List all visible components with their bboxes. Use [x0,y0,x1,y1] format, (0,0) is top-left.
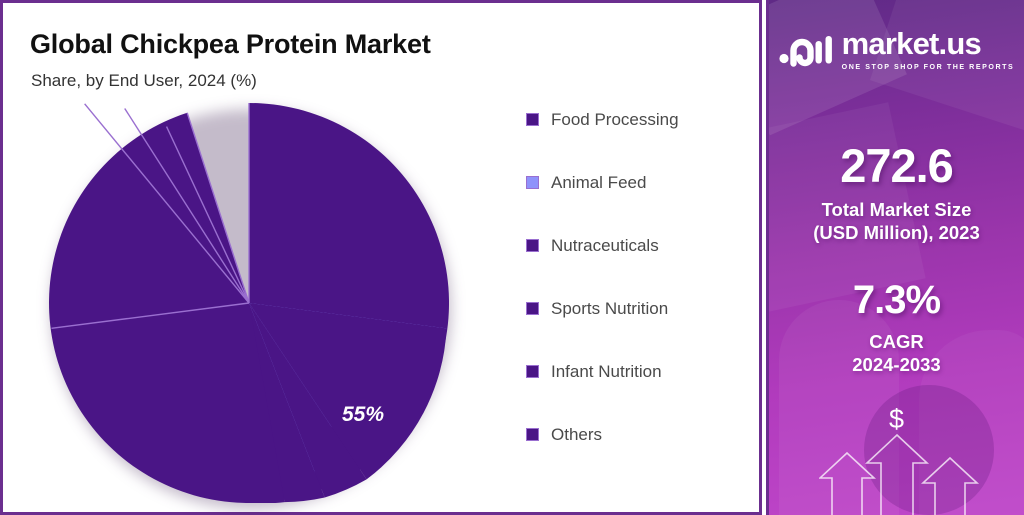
caption-line-1: CAGR [769,330,1024,353]
brand-panel: market.us ONE STOP SHOP FOR THE REPORTS … [766,0,1024,515]
legend-swatch-icon [526,176,539,189]
total-market-size-caption: Total Market Size (USD Million), 2023 [769,198,1024,245]
legend-item-label: Food Processing [551,111,679,128]
caption-line-1: Total Market Size [769,198,1024,221]
pie-slice-percentage-label: 55% [342,403,384,427]
page-title: Global Chickpea Protein Market [30,29,431,60]
chart-panel: Global Chickpea Protein Market Share, by… [0,0,762,515]
legend-item-label: Nutraceuticals [551,237,659,254]
legend-swatch-icon [526,302,539,315]
legend-item-label: Others [551,426,602,443]
legend-swatch-icon [526,113,539,126]
pie-chart: 55% [49,103,449,503]
legend-swatch-icon [526,428,539,441]
logo-wordmark: market.us [842,28,1015,59]
legend-item-label: Animal Feed [551,174,646,191]
legend-item-others[interactable]: Others [526,422,751,446]
logo-text-block: market.us ONE STOP SHOP FOR THE REPORTS [842,28,1015,71]
legend-item-sports-nutrition[interactable]: Sports Nutrition [526,296,751,320]
legend-swatch-icon [526,239,539,252]
legend-item-animal-feed[interactable]: Animal Feed [526,170,751,194]
infographic-root: Global Chickpea Protein Market Share, by… [0,0,1024,515]
legend-item-label: Sports Nutrition [551,300,668,317]
brand-logo: market.us ONE STOP SHOP FOR THE REPORTS [769,28,1024,71]
logo-tagline: ONE STOP SHOP FOR THE REPORTS [842,63,1015,71]
page-subtitle: Share, by End User, 2024 (%) [31,71,257,91]
caption-line-2: 2024-2033 [769,353,1024,376]
legend-item-infant-nutrition[interactable]: Infant Nutrition [526,359,751,383]
legend-item-nutraceuticals[interactable]: Nutraceuticals [526,233,751,257]
market-us-logo-icon [779,33,833,67]
total-market-size-value: 272.6 [769,138,1024,193]
legend-swatch-icon [526,365,539,378]
legend-item-label: Infant Nutrition [551,363,662,380]
growth-arrows-icon [819,425,989,515]
legend-item-food-processing[interactable]: Food Processing [526,107,751,131]
cagr-caption: CAGR 2024-2033 [769,330,1024,377]
legend: Food Processing Animal Feed Nutraceutica… [526,107,751,485]
caption-line-2: (USD Million), 2023 [769,221,1024,244]
cagr-value: 7.3% [769,278,1024,323]
pie-svg [49,103,449,503]
